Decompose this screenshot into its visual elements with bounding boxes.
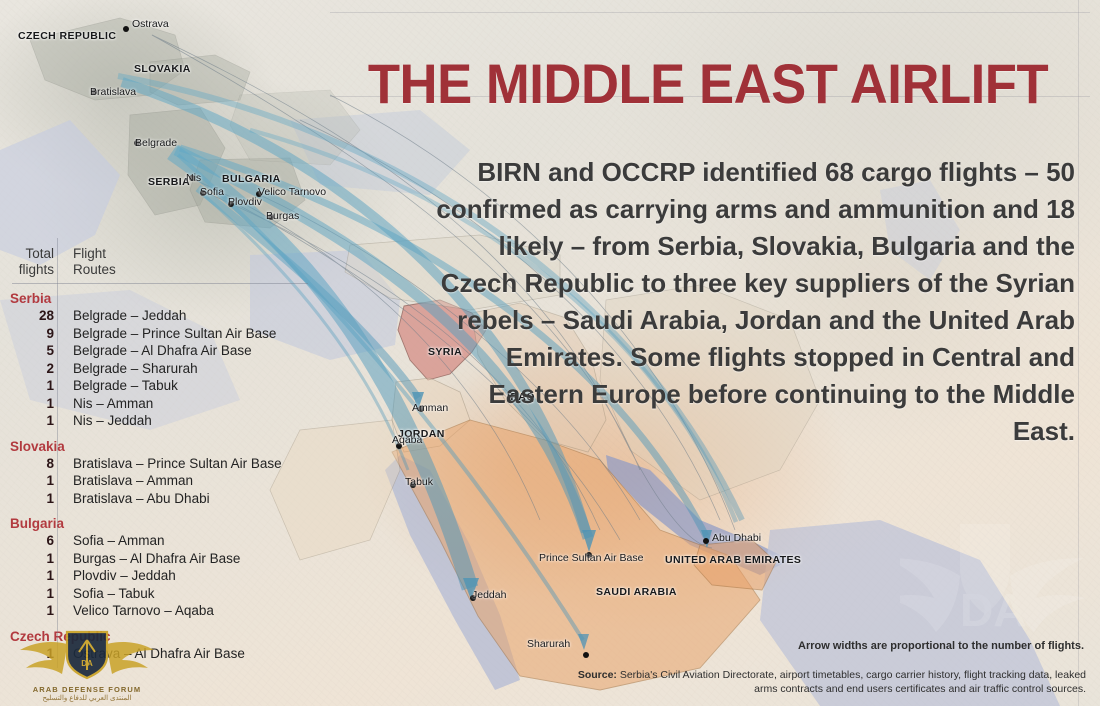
map-label-czech-republic: CZECH REPUBLIC [18,30,116,42]
route-label: Sofia – Amman [63,532,165,550]
route-count: 9 [0,325,63,343]
map-label-serbia: SERBIA [148,176,190,188]
table-row: 1Belgrade – Tabuk [0,377,330,395]
flight-routes-line1: Flight [73,246,330,262]
map-label-abu-dhabi: Abu Dhabi [712,532,761,544]
route-label: Belgrade – Tabuk [63,377,178,395]
route-count: 28 [0,307,63,325]
map-label-sofia: Sofia [200,186,224,198]
route-label: Nis – Amman [63,395,153,413]
route-label: Bratislava – Prince Sultan Air Base [63,455,282,473]
route-count: 1 [0,645,63,663]
table-row: 1Ostrava – Al Dhafra Air Base [0,645,330,663]
source-text: Serbia's Civil Aviation Directorate, air… [617,669,1086,695]
map-label-velico-tarnovo: Velico Tarnovo [258,186,326,198]
map-label-tabuk: Tabuk [405,476,433,488]
route-label: Bratislava – Amman [63,472,193,490]
flight-routes-panel: Total flights Flight Routes Serbia 28Bel… [0,238,330,662]
route-count: 1 [0,412,63,430]
route-group-czech-republic: Czech Republic 1Ostrava – Al Dhafra Air … [0,629,330,663]
infographic-root: CZECH REPUBLIC SLOVAKIA SERBIA BULGARIA … [0,0,1100,706]
map-label-slovakia: SLOVAKIA [134,63,191,75]
route-count: 6 [0,532,63,550]
table-row: 28Belgrade – Jeddah [0,307,330,325]
page-title: THE MIDDLE EAST AIRLIFT [360,56,1056,112]
route-label: Bratislava – Abu Dhabi [63,490,210,508]
table-row: 1Nis – Jeddah [0,412,330,430]
map-label-prince-sultan-air-base: Prince Sultan Air Base [539,552,643,564]
group-title-bulgaria: Bulgaria [0,516,330,531]
source-label: Source: [578,669,617,681]
route-count: 1 [0,567,63,585]
panel-header-divider [12,283,308,284]
route-count: 1 [0,602,63,620]
route-label: Velico Tarnovo – Aqaba [63,602,214,620]
map-label-bratislava: Bratislava [90,86,136,98]
map-label-sharurah: Sharurah [527,638,570,650]
route-label: Ostrava – Al Dhafra Air Base [63,645,245,663]
route-label: Belgrade – Jeddah [63,307,186,325]
route-label: Nis – Jeddah [63,412,152,430]
route-count: 1 [0,490,63,508]
route-label: Plovdiv – Jeddah [63,567,176,585]
panel-vertical-divider [57,238,58,668]
map-grid-line-vertical [1078,0,1079,706]
table-row: 1Bratislava – Abu Dhabi [0,490,330,508]
route-count: 2 [0,360,63,378]
group-title-slovakia: Slovakia [0,439,330,454]
map-label-aqaba: Aqaba [392,434,422,446]
route-count: 1 [0,550,63,568]
route-count: 1 [0,395,63,413]
group-title-serbia: Serbia [0,291,330,306]
route-label: Belgrade – Al Dhafra Air Base [63,342,252,360]
map-label-jeddah: Jeddah [472,589,506,601]
map-label-uae: UNITED ARAB EMIRATES [665,554,801,566]
lede-paragraph: BIRN and OCCRP identified 68 cargo fligh… [420,154,1075,450]
group-title-czech-republic: Czech Republic [0,629,330,644]
map-label-burgas: Burgas [266,210,299,222]
flight-routes-line2: Routes [73,262,330,278]
title-rule-top [330,12,1090,13]
route-count: 1 [0,472,63,490]
table-row: 2Belgrade – Sharurah [0,360,330,378]
column-header-total-flights: Total flights [0,246,63,277]
route-group-slovakia: Slovakia 8Bratislava – Prince Sultan Air… [0,439,330,508]
table-row: 5Belgrade – Al Dhafra Air Base [0,342,330,360]
map-label-nis: Nis [186,172,201,184]
panel-header: Total flights Flight Routes [0,246,330,282]
route-group-bulgaria: Bulgaria 6Sofia – Amman 1Burgas – Al Dha… [0,516,330,620]
table-row: 1Velico Tarnovo – Aqaba [0,602,330,620]
table-row: 6Sofia – Amman [0,532,330,550]
map-label-belgrade: Belgrade [135,137,177,149]
route-count: 1 [0,585,63,603]
route-label: Sofia – Tabuk [63,585,155,603]
route-group-serbia: Serbia 28Belgrade – Jeddah 9Belgrade – P… [0,291,330,430]
total-flights-line1: Total [0,246,54,262]
route-label: Belgrade – Sharurah [63,360,198,378]
total-flights-line2: flights [0,262,54,278]
map-label-plovdiv: Plovdiv [228,196,262,208]
table-row: 9Belgrade – Prince Sultan Air Base [0,325,330,343]
route-count: 8 [0,455,63,473]
column-header-flight-routes: Flight Routes [63,246,330,277]
table-row: 1Nis – Amman [0,395,330,413]
source-note: Source: Serbia's Civil Aviation Director… [556,668,1086,696]
map-label-saudi-arabia: SAUDI ARABIA [596,586,677,598]
map-label-ostrava: Ostrava [132,18,169,30]
route-count: 5 [0,342,63,360]
table-row: 8Bratislava – Prince Sultan Air Base [0,455,330,473]
table-row: 1Sofia – Tabuk [0,585,330,603]
arrow-width-note: Arrow widths are proportional to the num… [798,640,1084,652]
route-count: 1 [0,377,63,395]
route-label: Belgrade – Prince Sultan Air Base [63,325,276,343]
table-row: 1Burgas – Al Dhafra Air Base [0,550,330,568]
table-row: 1Bratislava – Amman [0,472,330,490]
table-row: 1Plovdiv – Jeddah [0,567,330,585]
route-label: Burgas – Al Dhafra Air Base [63,550,240,568]
map-label-bulgaria: BULGARIA [222,173,281,185]
